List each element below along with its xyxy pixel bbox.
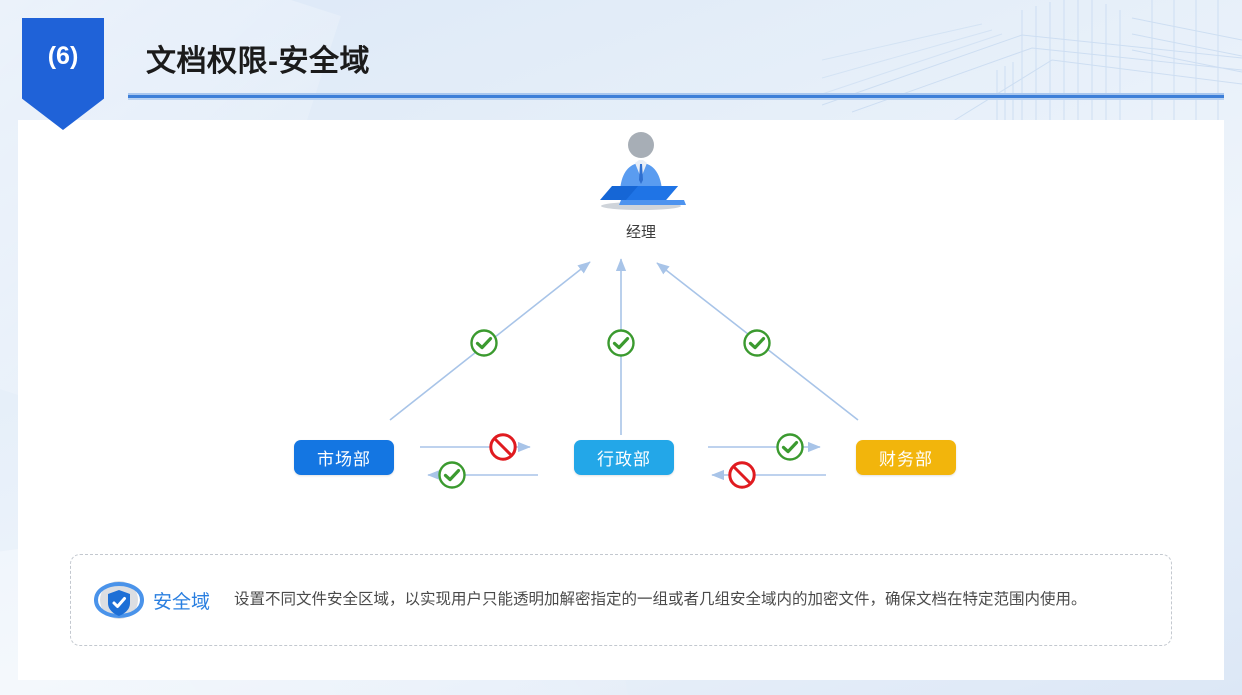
check-circle-icon — [469, 328, 499, 358]
background-building-pattern — [822, 0, 1242, 130]
prohibited-icon — [488, 432, 518, 462]
allow-mark-admin-to-manager — [606, 328, 636, 358]
note-title: 安全域 — [153, 587, 210, 614]
dept-label-market: 市场部 — [317, 445, 371, 470]
allow-mark-admin-to-market — [437, 460, 467, 490]
deny-mark-market-to-admin — [488, 432, 518, 462]
security-domain-shield-icon — [91, 576, 147, 624]
allow-mark-finance-to-manager — [742, 328, 772, 358]
title-divider — [128, 93, 1224, 101]
section-number-label: (6) — [48, 44, 79, 130]
dept-box-market[interactable]: 市场部 — [294, 440, 394, 475]
manager-node: 经理 — [586, 130, 696, 242]
dept-label-finance: 财务部 — [879, 445, 933, 470]
permission-diagram: 经理 市场部 行政部 财务部 — [18, 120, 1224, 550]
allow-mark-admin-to-finance — [775, 432, 805, 462]
dept-label-admin: 行政部 — [597, 445, 651, 470]
note-box: 安全域 设置不同文件安全区域，以实现用户只能透明加解密指定的一组或者几组安全域内… — [70, 554, 1172, 646]
dept-box-admin[interactable]: 行政部 — [574, 440, 674, 475]
deny-mark-finance-to-admin — [727, 460, 757, 490]
check-circle-icon — [742, 328, 772, 358]
check-circle-icon — [437, 460, 467, 490]
manager-person-laptop-icon — [586, 130, 696, 212]
prohibited-icon — [727, 460, 757, 490]
dept-box-finance[interactable]: 财务部 — [856, 440, 956, 475]
content-panel: 经理 市场部 行政部 财务部 — [18, 120, 1224, 680]
check-circle-icon — [775, 432, 805, 462]
section-number-badge: (6) — [22, 18, 104, 130]
allow-mark-market-to-manager — [469, 328, 499, 358]
page-title: 文档权限-安全域 — [146, 36, 370, 80]
note-body: 设置不同文件安全区域，以实现用户只能透明加解密指定的一组或者几组安全域内的加密文… — [234, 588, 1114, 611]
check-circle-icon — [606, 328, 636, 358]
manager-label: 经理 — [586, 221, 696, 242]
slide-root: (6) 文档权限-安全域 — [0, 0, 1242, 695]
